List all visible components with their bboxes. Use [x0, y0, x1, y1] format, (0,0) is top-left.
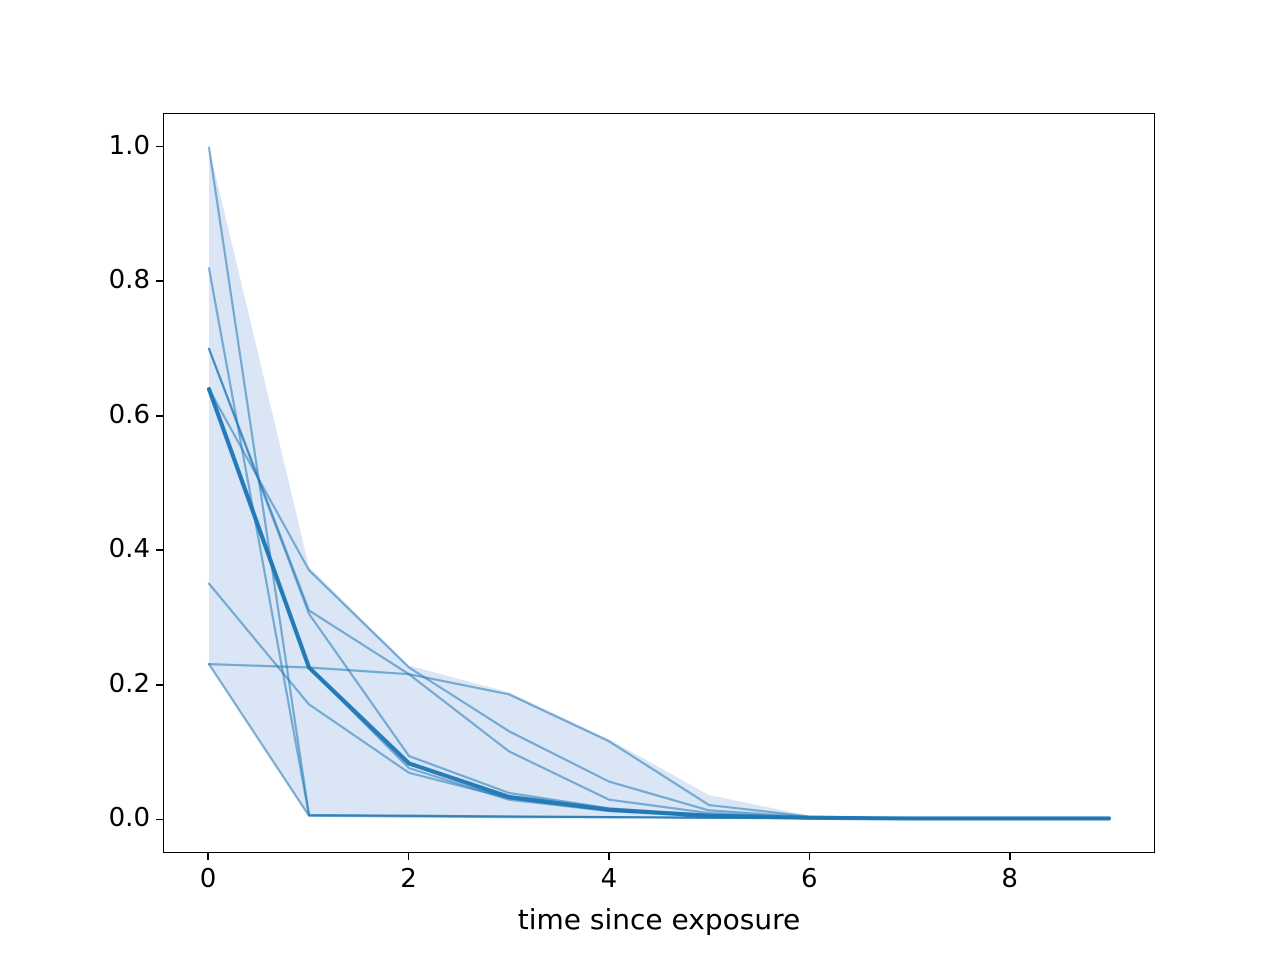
y-tick-mark: [156, 146, 163, 148]
y-tick-mark: [156, 280, 163, 282]
y-axis-tick-labels: 0.00.20.40.60.81.0: [55, 0, 150, 960]
plot-svg: [164, 114, 1154, 852]
y-tick-label: 1.0: [60, 131, 150, 161]
y-tick-mark: [156, 819, 163, 821]
x-axis-label: time since exposure: [163, 903, 1155, 936]
y-tick-label: 0.8: [60, 265, 150, 295]
x-tick-label: 8: [980, 863, 1040, 895]
x-tick-label: 4: [579, 863, 639, 895]
x-tick-label: 6: [779, 863, 839, 895]
plot-axes-area: [163, 113, 1155, 853]
y-tick-label: 0.2: [60, 669, 150, 699]
x-tick-mark: [608, 853, 610, 860]
x-tick-mark: [809, 853, 811, 860]
x-tick-label: 2: [378, 863, 438, 895]
figure-canvas: 02468 0.00.20.40.60.81.0 time since expo…: [0, 0, 1280, 960]
x-tick-label: 0: [178, 863, 238, 895]
confidence-band-group: [209, 148, 1109, 819]
y-tick-label: 0.4: [60, 534, 150, 564]
x-tick-mark: [408, 853, 410, 860]
y-tick-mark: [156, 549, 163, 551]
confidence-band: [209, 148, 1109, 819]
y-tick-mark: [156, 415, 163, 417]
y-tick-label: 0.0: [60, 803, 150, 833]
y-tick-label: 0.6: [60, 400, 150, 430]
y-tick-mark: [156, 684, 163, 686]
x-tick-mark: [207, 853, 209, 860]
x-tick-mark: [1009, 853, 1011, 860]
